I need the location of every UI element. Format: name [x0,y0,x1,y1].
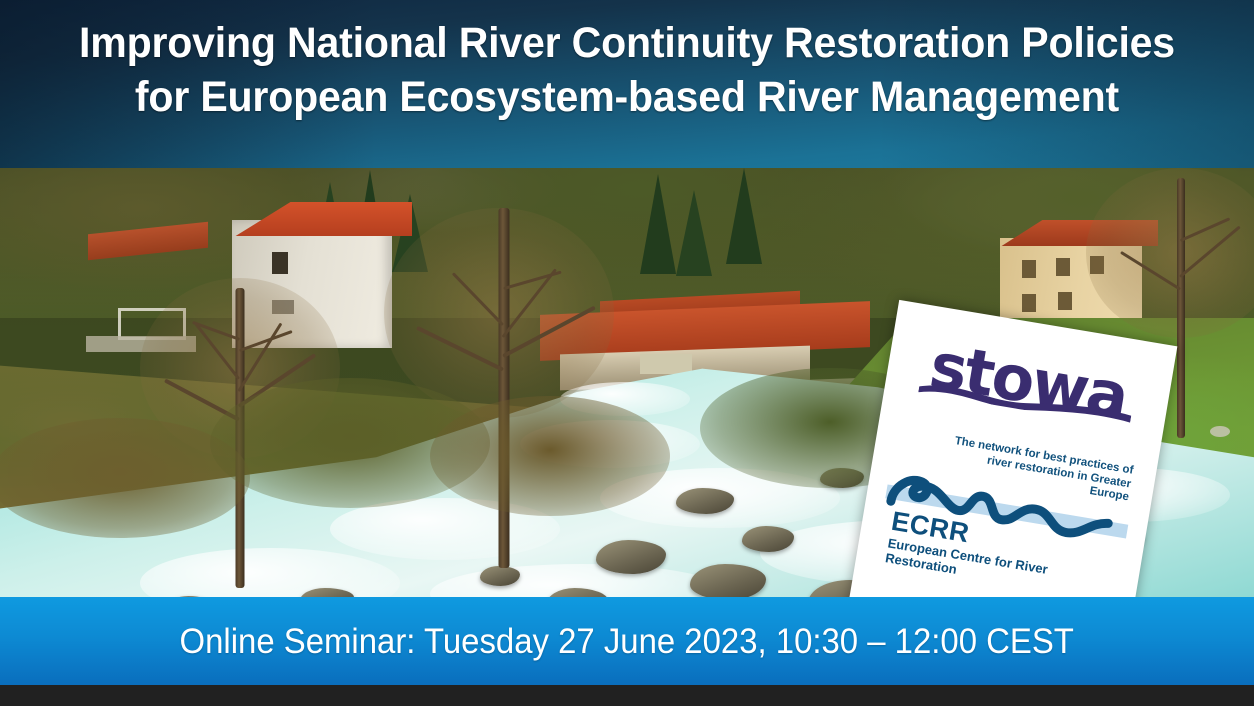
tree-canopy [1086,168,1254,338]
conifer-tree-icon [676,190,712,276]
window [1022,294,1036,312]
conifer-tree-icon [640,174,676,274]
conifer-tree-icon [726,168,762,264]
window [1056,258,1070,276]
page-title: Improving National River Continuity Rest… [28,0,1226,124]
stowa-logo: stowa [912,330,1146,432]
title-line-1: Improving National River Continuity Rest… [79,19,1175,67]
window [640,354,692,374]
window [1058,292,1072,310]
river-landscape-photo: stowa The network for best practices of … [0,168,1254,597]
seminar-announcement-slide: Improving National River Continuity Rest… [0,0,1254,706]
seminar-banner: Online Seminar: Tuesday 27 June 2023, 10… [0,597,1254,685]
title-header: Improving National River Continuity Rest… [0,0,1254,168]
seminar-datetime-text: Online Seminar: Tuesday 27 June 2023, 10… [180,624,1074,659]
scrub-bush [430,396,670,516]
ecrr-logo: The network for best practices of river … [874,425,1138,597]
river-rock [690,564,766,597]
window [1022,260,1036,278]
window [272,252,288,274]
footer-bar [0,685,1254,706]
title-line-2: for European Ecosystem-based River Manag… [28,70,1226,124]
